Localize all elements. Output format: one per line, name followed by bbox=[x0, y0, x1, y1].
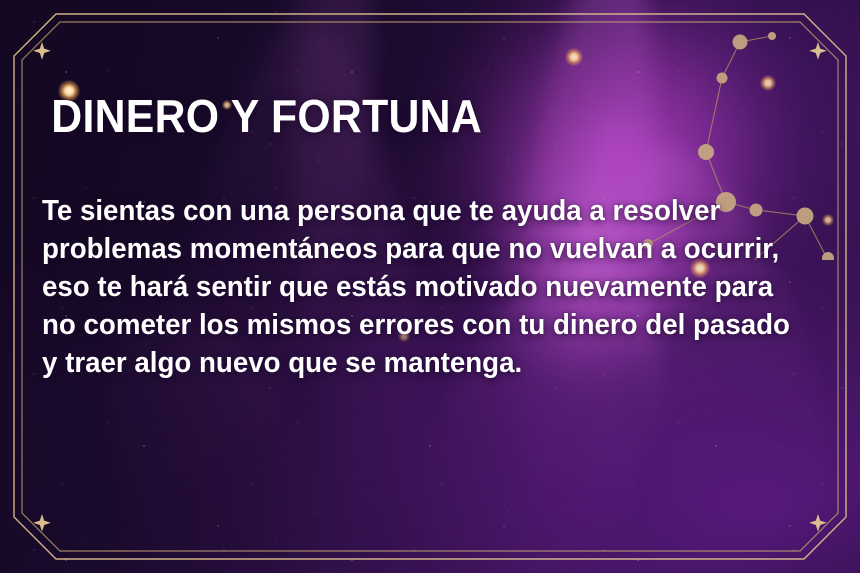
glow-star bbox=[565, 48, 583, 66]
horoscope-card: DINERO Y FORTUNA Te sientas con una pers… bbox=[0, 0, 860, 573]
text-content: DINERO Y FORTUNA Te sientas con una pers… bbox=[42, 92, 832, 382]
page-title: DINERO Y FORTUNA bbox=[42, 92, 777, 140]
horoscope-body-text: Te sientas con una persona que te ayuda … bbox=[42, 140, 796, 382]
